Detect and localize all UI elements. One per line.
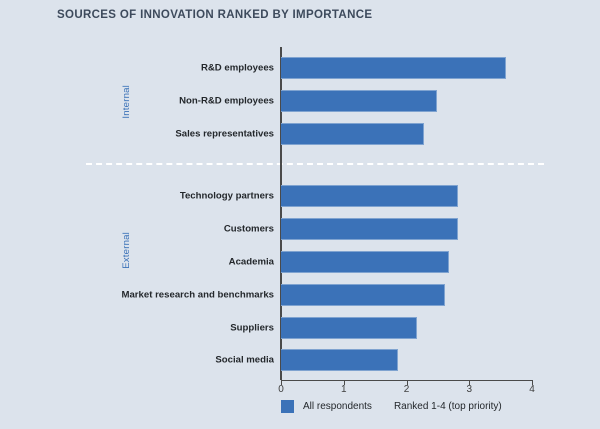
x-tick-label: 1 <box>341 384 347 395</box>
bar <box>281 90 437 112</box>
bar <box>281 57 506 79</box>
legend-note: Ranked 1-4 (top priority) <box>394 401 502 412</box>
legend-swatch-all-respondents <box>281 400 294 413</box>
legend-series-label: All respondents <box>303 401 372 412</box>
bar <box>281 123 424 145</box>
chart-title: SOURCES OF INNOVATION RANKED BY IMPORTAN… <box>57 9 372 21</box>
category-label: Social media <box>215 355 274 366</box>
bar <box>281 349 398 371</box>
bar-row <box>281 185 532 207</box>
bar-row <box>281 284 532 306</box>
bar <box>281 317 417 339</box>
bar-row <box>281 349 532 371</box>
group-label-internal: Internal <box>121 85 132 119</box>
x-tick-label: 2 <box>404 384 410 395</box>
x-tick-label: 3 <box>466 384 472 395</box>
bar-row <box>281 317 532 339</box>
bar-row <box>281 90 532 112</box>
group-label-external: External <box>121 232 132 269</box>
chart-container: SOURCES OF INNOVATION RANKED BY IMPORTAN… <box>0 0 600 429</box>
bar-row <box>281 251 532 273</box>
category-label: Non-R&D employees <box>179 96 274 107</box>
bar <box>281 251 449 273</box>
group-divider <box>86 163 544 165</box>
category-label: Academia <box>229 257 274 268</box>
x-tick-label: 4 <box>529 384 535 395</box>
category-label: Suppliers <box>230 323 274 334</box>
chart-legend: All respondents Ranked 1-4 (top priority… <box>281 400 502 413</box>
bar <box>281 284 445 306</box>
bar-row <box>281 123 532 145</box>
category-label: Customers <box>224 224 274 235</box>
category-label: Market research and benchmarks <box>121 290 274 301</box>
x-tick-label: 0 <box>278 384 284 395</box>
category-label: Sales representatives <box>175 129 274 140</box>
bar <box>281 218 458 240</box>
bar-row <box>281 218 532 240</box>
bar <box>281 185 458 207</box>
category-label: R&D employees <box>201 63 274 74</box>
category-label: Technology partners <box>180 191 274 202</box>
bar-row <box>281 57 532 79</box>
